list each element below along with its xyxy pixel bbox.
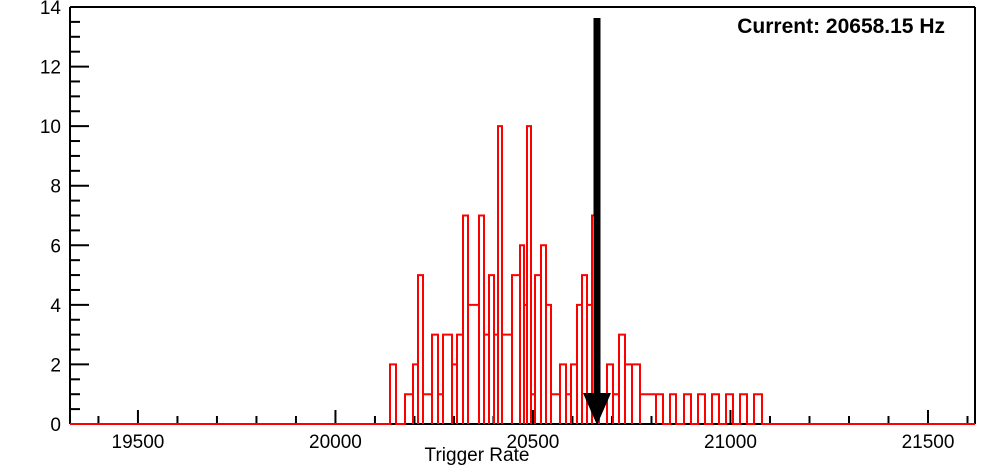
histogram-trace[interactable] <box>70 126 975 424</box>
y-tick-label: 2 <box>50 355 61 376</box>
y-tick-label: 8 <box>50 177 61 198</box>
x-tick-label: 21000 <box>704 432 757 453</box>
x-axis-tick-labels: 1950020000205002100021500 <box>112 432 955 453</box>
x-axis-title: Trigger Rate <box>425 445 530 466</box>
x-axis-ticks <box>98 410 967 424</box>
y-tick-label: 0 <box>50 415 61 436</box>
x-tick-label: 20000 <box>309 432 362 453</box>
y-axis-tick-labels: 02468101214 <box>40 0 62 436</box>
y-tick-label: 4 <box>50 296 61 317</box>
x-tick-label: 21500 <box>902 432 955 453</box>
current-rate-label: Current: 20658.15 Hz <box>737 15 945 38</box>
root-canvas: 02468101214 1950020000205002100021500 Tr… <box>0 0 996 472</box>
y-tick-label: 6 <box>50 236 61 257</box>
y-axis-ticks <box>70 7 89 424</box>
y-tick-label: 10 <box>40 117 61 138</box>
y-tick-label: 12 <box>40 58 61 79</box>
x-tick-label: 19500 <box>112 432 165 453</box>
y-tick-label: 14 <box>40 0 62 19</box>
histogram-plot[interactable]: 02468101214 1950020000205002100021500 Tr… <box>0 0 996 472</box>
plot-frame <box>70 7 975 424</box>
